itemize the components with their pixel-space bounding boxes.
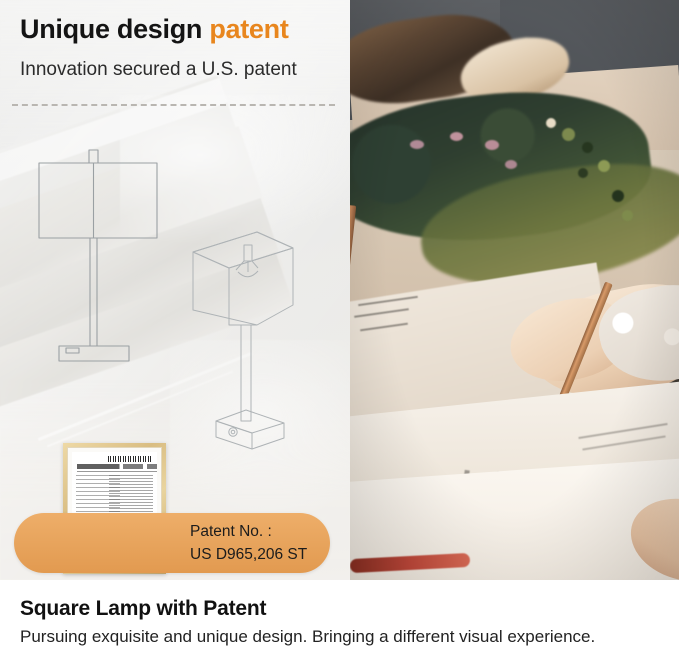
- headline-lead: Unique design: [20, 14, 202, 44]
- page-title: Unique design patent: [20, 14, 289, 45]
- lifestyle-photo: [350, 0, 679, 580]
- dashed-divider: [12, 104, 335, 106]
- caption-section: Square Lamp with Patent Pursuing exquisi…: [0, 580, 679, 662]
- lamp-technical-drawings: [0, 0, 350, 580]
- patent-number-text: Patent No. : US D965,206 ST: [190, 520, 340, 566]
- hero-section: Patent No. : US D965,206 ST Unique desig…: [0, 0, 679, 580]
- caption-title: Square Lamp with Patent: [20, 597, 266, 621]
- certificate-title-line: [77, 464, 157, 469]
- patent-number-label: Patent No. :: [190, 520, 340, 543]
- product-feature-banner: Patent No. : US D965,206 ST Unique desig…: [0, 0, 679, 662]
- patent-number-value: US D965,206 ST: [190, 543, 340, 566]
- headline-accent: patent: [209, 14, 288, 44]
- caption-subtitle: Pursuing exquisite and unique design. Br…: [20, 627, 595, 647]
- barcode-icon: [108, 456, 152, 462]
- left-design-panel: Patent No. : US D965,206 ST Unique desig…: [0, 0, 350, 580]
- page-subtitle: Innovation secured a U.S. patent: [20, 59, 297, 81]
